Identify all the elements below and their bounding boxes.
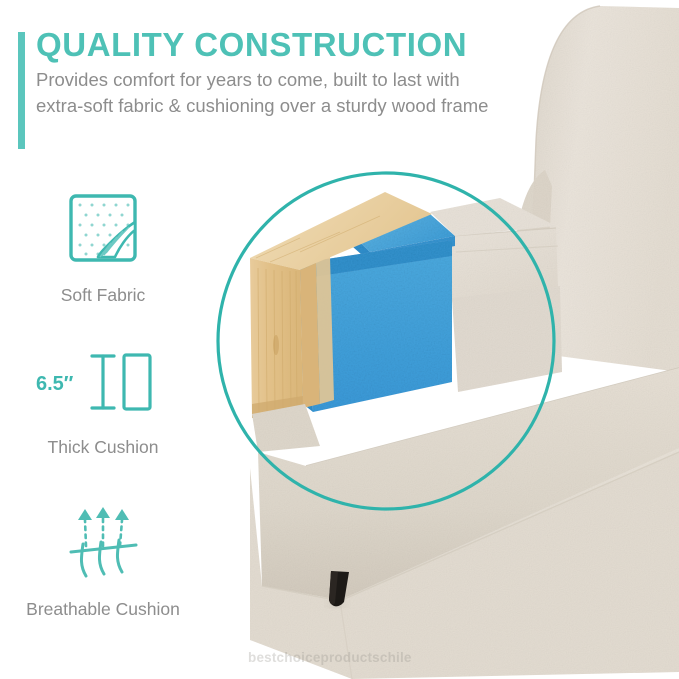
watermark: bestchoiceproductschile — [248, 650, 412, 665]
breathable-cushion-icon — [18, 500, 188, 584]
feature-label: Soft Fabric — [18, 284, 188, 307]
soft-fabric-icon — [18, 186, 188, 270]
cushion-thickness-value: 6.5″ — [36, 373, 74, 395]
title-accent-bar — [18, 32, 25, 149]
thick-cushion-icon: 6.5″ — [18, 338, 188, 422]
feature-thick-cushion: 6.5″ Thick Cushion — [18, 338, 188, 459]
feature-breathable-cushion: Breathable Cushion — [18, 500, 188, 621]
feature-soft-fabric: Soft Fabric — [18, 186, 188, 307]
feature-label: Thick Cushion — [18, 436, 188, 459]
page-subtitle: Provides comfort for years to come, buil… — [36, 67, 506, 118]
feature-label: Breathable Cushion — [18, 598, 188, 621]
callout-circle — [218, 173, 554, 509]
page-title: QUALITY CONSTRUCTION — [36, 26, 546, 64]
infographic-canvas: QUALITY CONSTRUCTION Provides comfort fo… — [0, 0, 679, 679]
